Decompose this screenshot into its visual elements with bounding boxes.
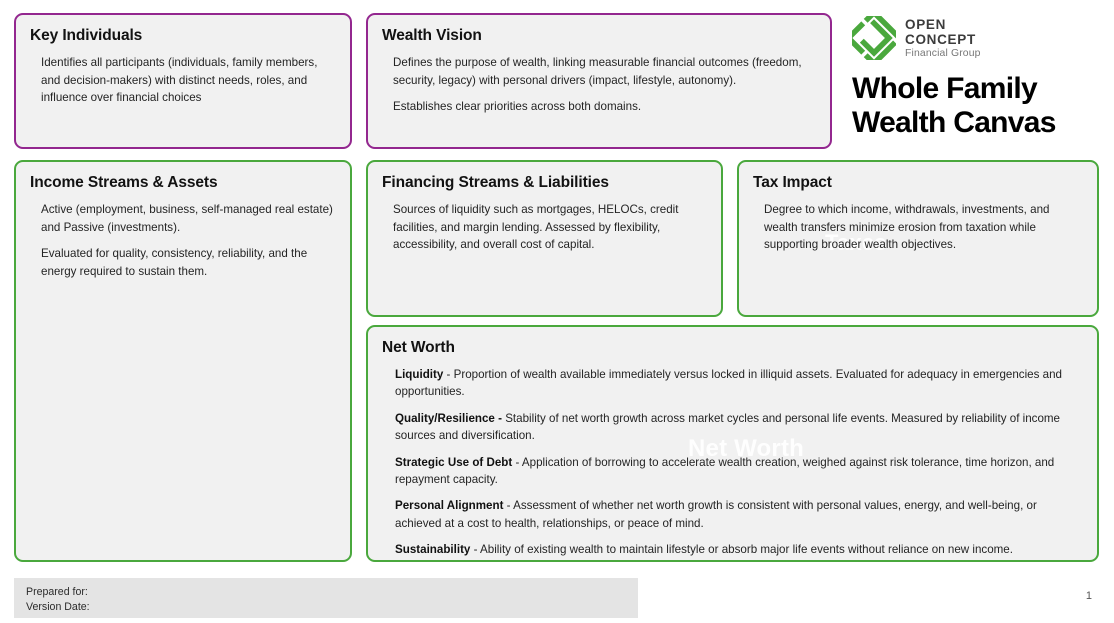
canvas-page: Key Individuals Identifies all participa… — [0, 0, 1114, 623]
paragraph: Degree to which income, withdrawals, inv… — [764, 201, 1083, 254]
card-title-financing-streams: Financing Streams & Liabilities — [382, 174, 707, 192]
logo-wordmark: OPEN CONCEPT Financial Group — [905, 16, 981, 60]
net-worth-term: Personal Alignment — [395, 499, 503, 512]
card-title-tax-impact: Tax Impact — [753, 174, 1083, 192]
brand-block: OPEN CONCEPT Financial Group Whole Famil… — [852, 16, 1102, 139]
card-income-streams-assets[interactable]: Income Streams & Assets Active (employme… — [14, 160, 352, 562]
paragraph: Active (employment, business, self-manag… — [41, 201, 336, 236]
wordmark-line-concept: CONCEPT — [905, 32, 981, 47]
paragraph: Identifies all participants (individuals… — [41, 54, 336, 107]
footer-prepared-block[interactable]: Prepared for: Version Date: — [14, 578, 638, 618]
net-worth-list-item: Sustainability - Ability of existing wea… — [395, 541, 1083, 558]
page-title-line1: Whole Family — [852, 72, 1102, 106]
page-title-line2: Wealth Canvas — [852, 106, 1102, 140]
net-worth-term: Quality/Resilience - — [395, 412, 502, 425]
net-worth-list-item: Quality/Resilience - Stability of net wo… — [395, 410, 1083, 445]
net-worth-description: - Proportion of wealth available immedia… — [395, 368, 1062, 398]
prepared-for-label: Prepared for: — [26, 585, 626, 600]
net-worth-list-item: Liquidity - Proportion of wealth availab… — [395, 366, 1083, 401]
net-worth-list-item: Strategic Use of Debt - Application of b… — [395, 454, 1083, 489]
paragraph: Defines the purpose of wealth, linking m… — [393, 54, 816, 89]
card-title-key-individuals: Key Individuals — [30, 27, 336, 45]
paragraph: Sources of liquidity such as mortgages, … — [393, 201, 707, 254]
card-net-worth[interactable]: Net Worth Net Worth Liquidity - Proporti… — [366, 325, 1099, 562]
card-body-key-individuals: Identifies all participants (individuals… — [30, 54, 336, 107]
card-body-income-streams: Active (employment, business, self-manag… — [30, 201, 336, 280]
card-financing-streams-liabilities[interactable]: Financing Streams & Liabilities Sources … — [366, 160, 723, 317]
page-title: Whole Family Wealth Canvas — [852, 72, 1102, 139]
page-number: 1 — [1086, 590, 1092, 602]
net-worth-description: - Ability of existing wealth to maintain… — [470, 543, 1013, 556]
paragraph: Evaluated for quality, consistency, reli… — [41, 245, 336, 280]
card-key-individuals[interactable]: Key Individuals Identifies all participa… — [14, 13, 352, 149]
paragraph: Establishes clear priorities across both… — [393, 98, 816, 116]
card-wealth-vision[interactable]: Wealth Vision Defines the purpose of wea… — [366, 13, 832, 149]
card-title-wealth-vision: Wealth Vision — [382, 27, 816, 45]
wordmark-line-open: OPEN — [905, 17, 981, 32]
net-worth-term: Liquidity — [395, 368, 443, 381]
card-title-net-worth: Net Worth — [382, 339, 1083, 357]
card-body-financing-streams: Sources of liquidity such as mortgages, … — [382, 201, 707, 254]
open-concept-spiral-logo-icon — [852, 16, 896, 60]
net-worth-attribute-list: Liquidity - Proportion of wealth availab… — [382, 366, 1083, 559]
wordmark-subtitle: Financial Group — [905, 49, 981, 59]
card-tax-impact[interactable]: Taxes Tax Impact Degree to which income,… — [737, 160, 1099, 317]
version-date-label: Version Date: — [26, 600, 626, 615]
logo-row: OPEN CONCEPT Financial Group — [852, 16, 1102, 60]
net-worth-term: Strategic Use of Debt — [395, 456, 512, 469]
net-worth-list-item: Personal Alignment - Assessment of wheth… — [395, 497, 1083, 532]
card-body-wealth-vision: Defines the purpose of wealth, linking m… — [382, 54, 816, 116]
card-title-income-streams: Income Streams & Assets — [30, 174, 336, 192]
net-worth-term: Sustainability — [395, 543, 470, 556]
card-body-tax-impact: Degree to which income, withdrawals, inv… — [753, 201, 1083, 254]
